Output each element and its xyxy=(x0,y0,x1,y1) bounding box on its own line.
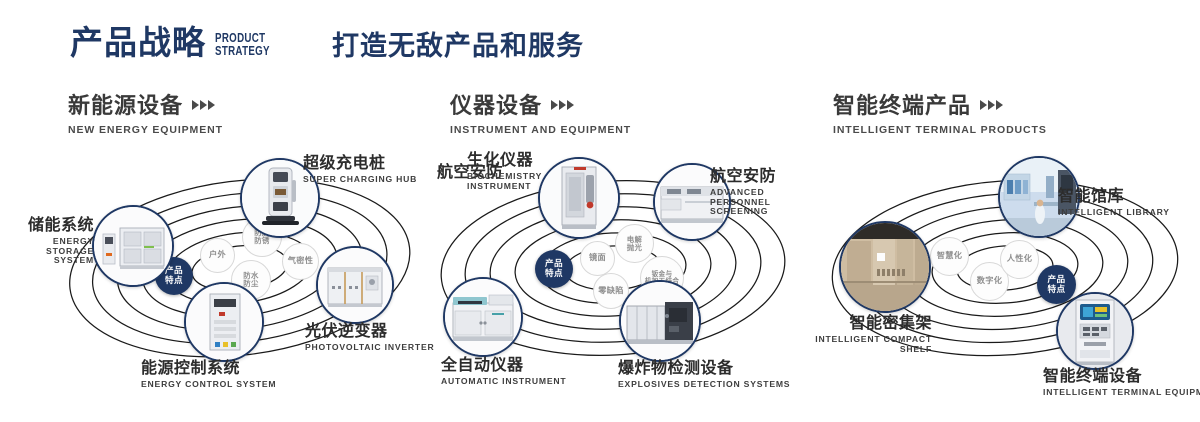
product-label-charging-hub: 超级充电桩 SUPER CHARGING HUB xyxy=(303,155,417,185)
cluster-instrument: 产品特点 镜面 电解 抛光 钣金与 机加工结合 零缺陷 航空安防 生化仪器 BI… xyxy=(425,160,800,375)
product-label-biochemistry-instrument: 生化仪器 BIOCHEMISTRY INSTRUMENT xyxy=(467,152,542,191)
product-node-energy-storage[interactable] xyxy=(92,205,174,287)
chevron-right-icon xyxy=(551,100,574,110)
explosives-detector-icon xyxy=(621,282,699,360)
page-title: 产品战略 xyxy=(70,26,206,59)
product-label-intelligent-library: 智能馆库 INTELLIGENT LIBRARY xyxy=(1058,188,1170,218)
product-node-compact-shelving[interactable] xyxy=(839,221,931,313)
feature-bubble-mirror: 镜面 xyxy=(580,241,615,276)
section-title-intelligent-terminal: 智能终端产品 INTELLIGENT TERMINAL PRODUCTS xyxy=(833,95,1047,136)
section-title-new-energy: 新能源设备 NEW ENERGY EQUIPMENT xyxy=(68,95,223,136)
section-title-en: NEW ENERGY EQUIPMENT xyxy=(68,124,223,136)
feature-bubble-smart: 智慧化 xyxy=(930,237,969,276)
feature-bubble-electropolishing: 电解 抛光 xyxy=(615,224,654,263)
section-title-en: INTELLIGENT TERMINAL PRODUCTS xyxy=(833,124,1047,136)
product-label-compact-shelving: 智能密集架 INTELLIGENT COMPACT SHELF xyxy=(787,315,932,354)
product-node-terminal-equipment[interactable] xyxy=(1056,292,1134,370)
page-header: 产品战略 PRODUCT STRATEGY xyxy=(70,26,285,59)
feature-bubble-outdoor: 户外 xyxy=(200,238,235,273)
cluster-intelligent-terminal: 智慧化 数字化 人性化 产品特点 xyxy=(815,160,1195,375)
product-node-pv-inverter[interactable] xyxy=(316,246,394,324)
product-label-energy-control: 能源控制系统 ENERGY CONTROL SYSTEM xyxy=(141,360,276,390)
biochemistry-analyzer-icon xyxy=(540,159,618,237)
product-node-automatic-instrument[interactable] xyxy=(443,277,523,357)
product-label-automatic-instrument: 全自动仪器 AUTOMATIC INSTRUMENT xyxy=(441,357,566,387)
core-badge-product-features: 产品特点 xyxy=(535,250,573,288)
product-label-terminal-equipment: 智能终端设备 INTELLIGENT TERMINAL EQUIPMENT xyxy=(1043,368,1200,398)
section-title-instrument: 仪器设备 INSTRUMENT AND EQUIPMENT xyxy=(450,95,631,136)
page-subtitle: 打造无敌产品和服务 xyxy=(332,33,584,60)
section-title-cn: 新能源设备 xyxy=(68,95,183,117)
section-title-en: INSTRUMENT AND EQUIPMENT xyxy=(450,124,631,136)
product-label-explosives-detection: 爆炸物检测设备 EXPLOSIVES DETECTION SYSTEMS xyxy=(618,360,790,390)
automatic-instrument-icon xyxy=(445,279,521,355)
energy-storage-cabinet-icon xyxy=(94,207,172,285)
cluster-new-energy: 产品特点 户外 防腐 防锈 防水 防尘 气密性 储能系统 ENER xyxy=(55,160,425,375)
self-service-kiosk-icon xyxy=(1058,294,1132,368)
compact-shelving-icon xyxy=(841,223,929,311)
section-title-cn: 智能终端产品 xyxy=(833,95,971,117)
section-title-cn: 仪器设备 xyxy=(450,95,542,117)
product-node-explosives-detection[interactable] xyxy=(619,280,701,362)
page-title-english: PRODUCT STRATEGY xyxy=(215,32,270,57)
product-label-energy-storage: 储能系统 ENERGY STORAGE SYSTEM xyxy=(12,217,94,266)
feature-bubble-humanized: 人性化 xyxy=(1000,240,1039,279)
product-node-biochemistry-instrument[interactable] xyxy=(538,157,620,239)
control-cabinet-icon xyxy=(186,284,262,360)
product-label-personnel-screening: 航空安防 ADVANCED PERSONNEL SCREENING xyxy=(710,168,800,217)
pv-inverter-cabinet-icon xyxy=(318,248,392,322)
chevron-right-icon xyxy=(192,100,215,110)
product-node-energy-control[interactable] xyxy=(184,282,264,362)
chevron-right-icon xyxy=(980,100,1003,110)
infographic-canvas: 产品战略 PRODUCT STRATEGY 打造无敌产品和服务 新能源设备 NE… xyxy=(0,0,1200,422)
feature-bubble-airtight: 气密性 xyxy=(282,243,319,280)
product-label-pv-inverter: 光伏逆变器 PHOTOVOLTAIC INVERTER xyxy=(305,323,434,353)
